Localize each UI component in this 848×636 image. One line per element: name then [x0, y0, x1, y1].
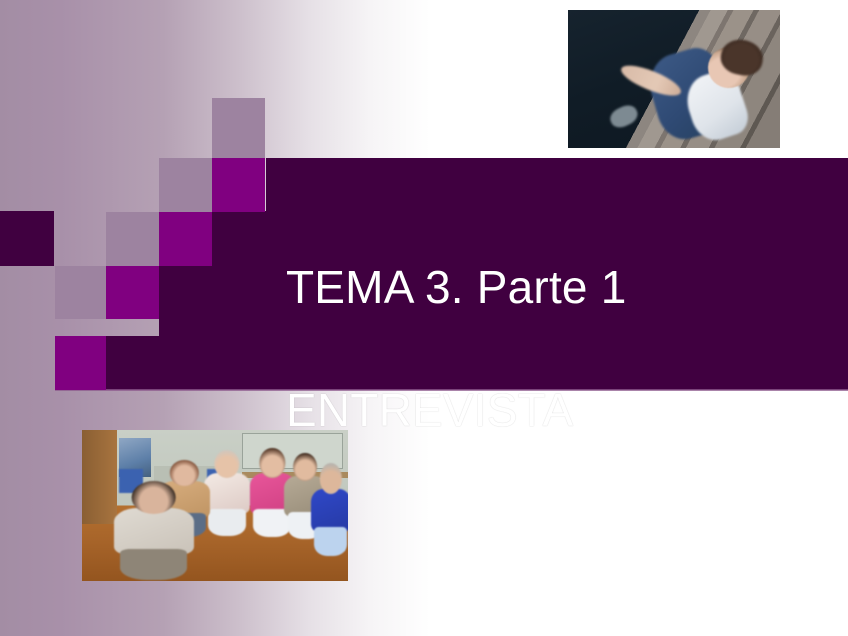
- mosaic-square-magenta-3: [106, 266, 159, 319]
- band-step-middle: [159, 265, 272, 337]
- person-body: [311, 489, 348, 532]
- mosaic-square-mauve-1: [212, 98, 265, 158]
- person-head: [214, 450, 239, 479]
- room-door: [82, 430, 117, 524]
- band-step-upper: [212, 211, 272, 266]
- band-step-lower: [106, 336, 272, 390]
- dock-figure-shoe: [608, 102, 641, 131]
- person-head: [320, 463, 342, 494]
- slide-title: TEMA 3. Parte 1 ENTREVISTA: [286, 196, 826, 502]
- person-legs: [208, 509, 246, 536]
- person-legs: [120, 549, 187, 580]
- group-person-1-foreground: [114, 481, 194, 578]
- mosaic-square-magenta-2: [159, 212, 212, 266]
- title-line-1: TEMA 3. Parte 1: [286, 257, 826, 318]
- person-head: [131, 481, 176, 514]
- title-line-2: ENTREVISTA: [286, 380, 826, 441]
- photo-group-circle: [82, 430, 348, 581]
- band-square-left: [0, 211, 54, 266]
- person-body: [114, 508, 194, 554]
- group-person-6: [311, 463, 348, 554]
- mosaic-square-mauve-2: [159, 158, 212, 212]
- photo-person-on-dock: [568, 10, 780, 148]
- person-legs: [314, 527, 348, 556]
- person-body: [204, 473, 249, 514]
- mosaic-square-magenta-4: [55, 336, 106, 390]
- group-person-3: [204, 450, 249, 535]
- mosaic-square-magenta-1: [212, 158, 265, 212]
- mosaic-square-mauve-3: [106, 212, 159, 266]
- mosaic-square-mauve-4: [55, 266, 106, 319]
- person-head: [260, 448, 285, 478]
- presentation-slide: TEMA 3. Parte 1 ENTREVISTA: [0, 0, 848, 636]
